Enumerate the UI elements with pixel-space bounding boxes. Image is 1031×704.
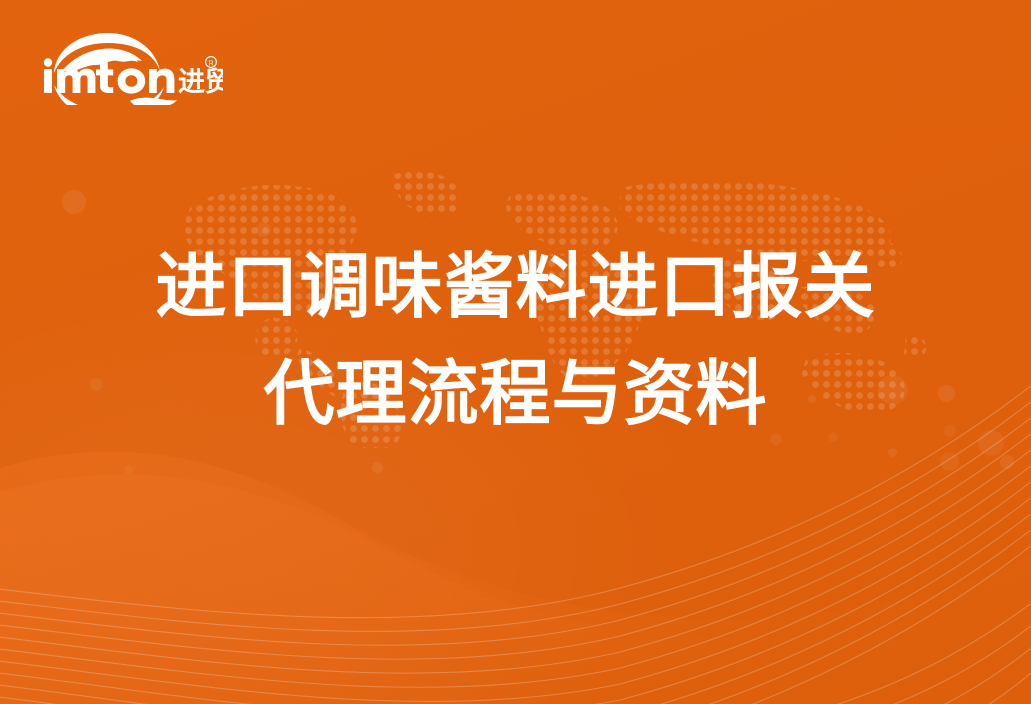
headline-line-1: 进口调味酱料进口报关: [0, 252, 1031, 323]
page-title: 进口调味酱料进口报关 代理流程与资料: [0, 252, 1031, 430]
logo-wordmark: [44, 58, 175, 93]
headline-line-2: 代理流程与资料: [0, 359, 1031, 430]
svg-text:进贸通: 进贸通: [178, 67, 223, 97]
airplane-icon: [130, 98, 177, 105]
promo-banner: 进贸通 R 进口调味酱料进口报关 代理流程与资料: [0, 0, 1031, 704]
logo-cn-name: 进贸通: [178, 67, 223, 97]
registered-mark-icon: R: [206, 57, 217, 68]
brand-logo[interactable]: 进贸通 R: [38, 27, 223, 105]
svg-text:R: R: [208, 60, 213, 67]
